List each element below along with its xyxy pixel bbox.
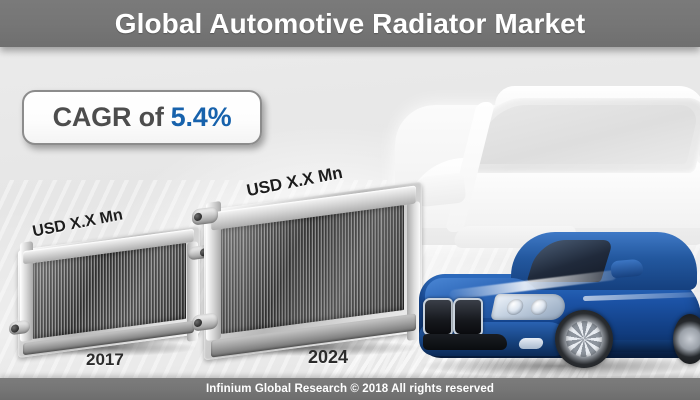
car-side-mirror	[610, 259, 643, 279]
year-label-2017: 2017	[86, 350, 124, 370]
car-lower-grille	[423, 334, 507, 350]
footer-bar: Infinium Global Research © 2018 All righ…	[0, 378, 700, 400]
blue-bmw-coupe-image	[415, 222, 700, 378]
car-kidney-grille-left	[423, 298, 453, 336]
car-kidney-grille-right	[453, 298, 483, 336]
car-front-wheel	[555, 310, 613, 368]
radiator-figure-2024	[204, 196, 422, 346]
watermark-car-windshield	[464, 98, 700, 173]
page-title: Global Automotive Radiator Market	[115, 8, 586, 40]
header-bar: Global Automotive Radiator Market	[0, 0, 700, 47]
car-fog-light	[518, 338, 544, 349]
cagr-value-label: 5.4%	[171, 102, 232, 132]
cagr-badge: CAGR of5.4%	[22, 90, 262, 145]
car-rear-wheel	[673, 314, 700, 364]
white-car-watermark-image	[395, 50, 700, 245]
copyright-text: Infinium Global Research © 2018 All righ…	[206, 383, 494, 395]
cagr-text: CAGR of5.4%	[53, 102, 232, 133]
infographic-canvas: Global Automotive Radiator Market CAGR o…	[0, 0, 700, 400]
car-ground-shadow	[421, 356, 699, 376]
radiator-figure-2017	[18, 238, 200, 346]
year-label-2024: 2024	[308, 347, 348, 368]
cagr-prefix-label: CAGR of	[53, 102, 164, 132]
car-headlight	[490, 294, 568, 320]
